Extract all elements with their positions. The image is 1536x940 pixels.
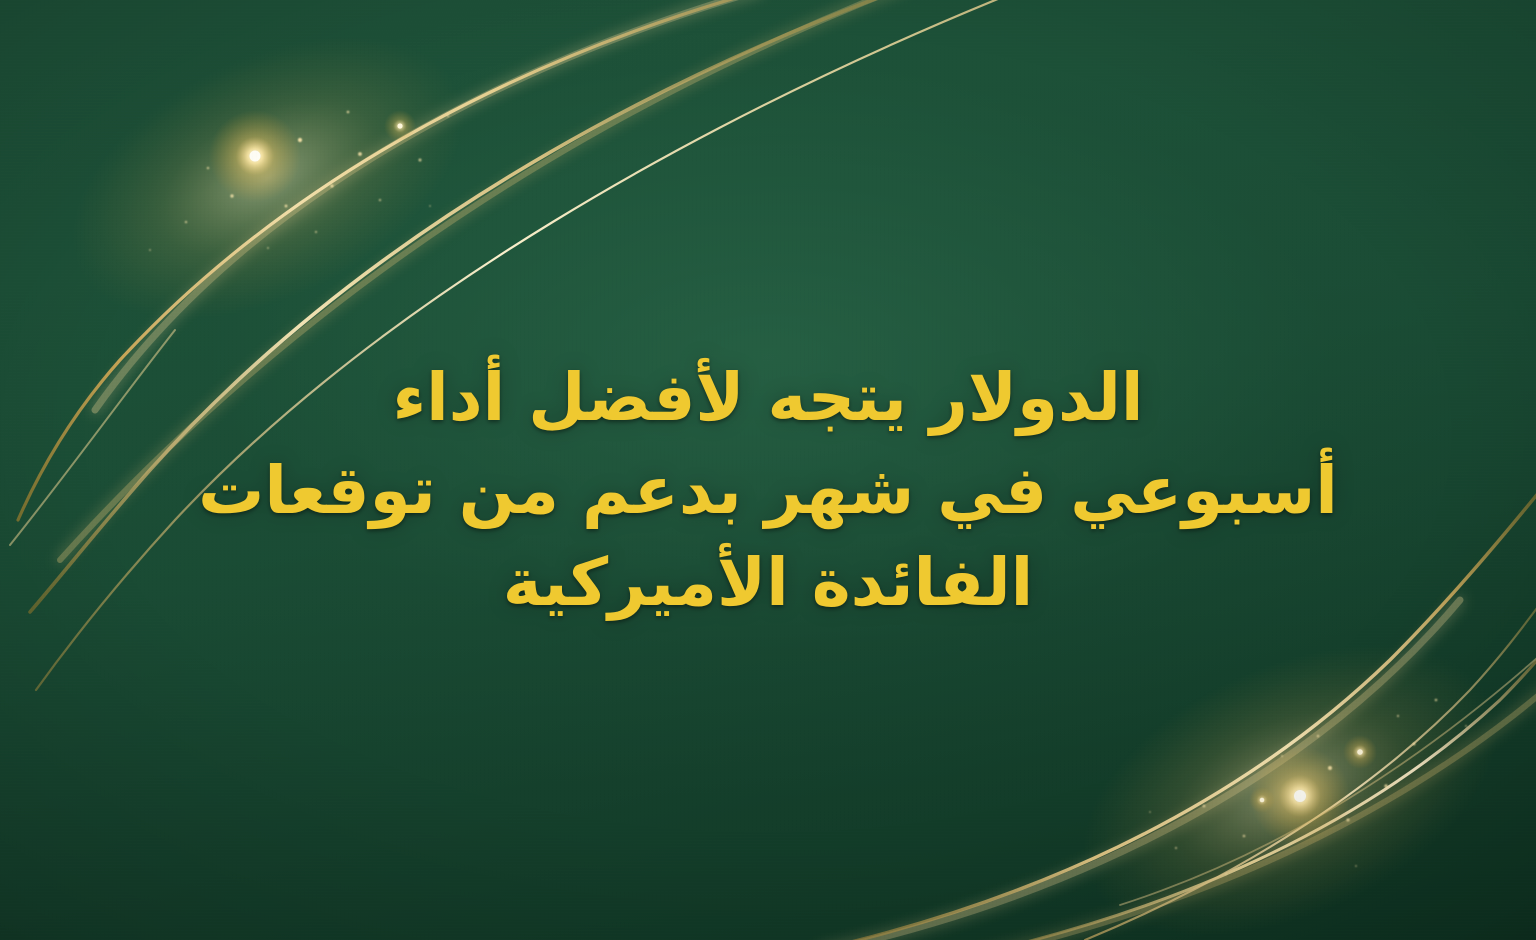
headline-container: الدولار يتجه لأفضل أداء أسبوعي في شهر بد…: [0, 0, 1536, 940]
news-card: الدولار يتجه لأفضل أداء أسبوعي في شهر بد…: [0, 0, 1536, 940]
page-title: الدولار يتجه لأفضل أداء أسبوعي في شهر بد…: [188, 352, 1348, 629]
headline-line-2: أسبوعي في شهر بدعم من توقعات: [188, 445, 1348, 537]
headline-line-1: الدولار يتجه لأفضل أداء: [188, 352, 1348, 444]
headline-line-3: الفائدة الأميركية: [188, 537, 1348, 629]
